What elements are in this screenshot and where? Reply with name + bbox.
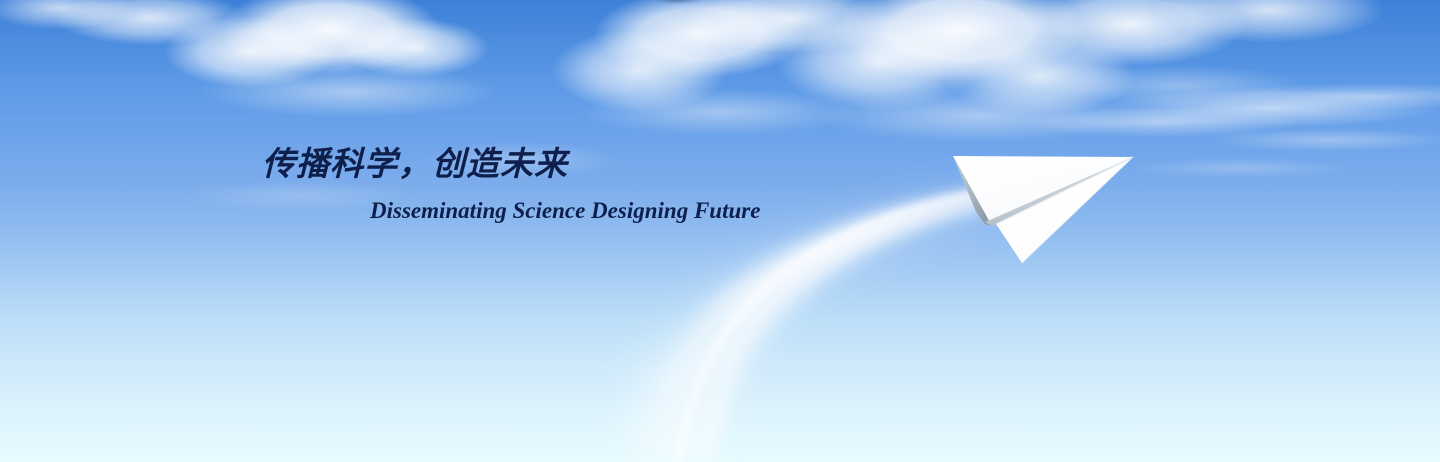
paper-airplane-icon [930,140,1160,285]
cirrus-cloud-icon [0,0,1440,462]
tagline-block: 传播科学，创造未来 Disseminating Science Designin… [262,146,962,225]
sky-banner: 传播科学，创造未来 Disseminating Science Designin… [0,0,1440,462]
tagline-chinese: 传播科学，创造未来 [262,146,962,185]
cumulus-cloud-band-icon [0,0,1440,462]
tagline-english: Disseminating Science Designing Future [262,197,962,225]
cloud-shelf-icon [0,0,1440,462]
contrail-swoosh-icon [0,0,1440,462]
top-edge-smudge [648,0,706,7]
